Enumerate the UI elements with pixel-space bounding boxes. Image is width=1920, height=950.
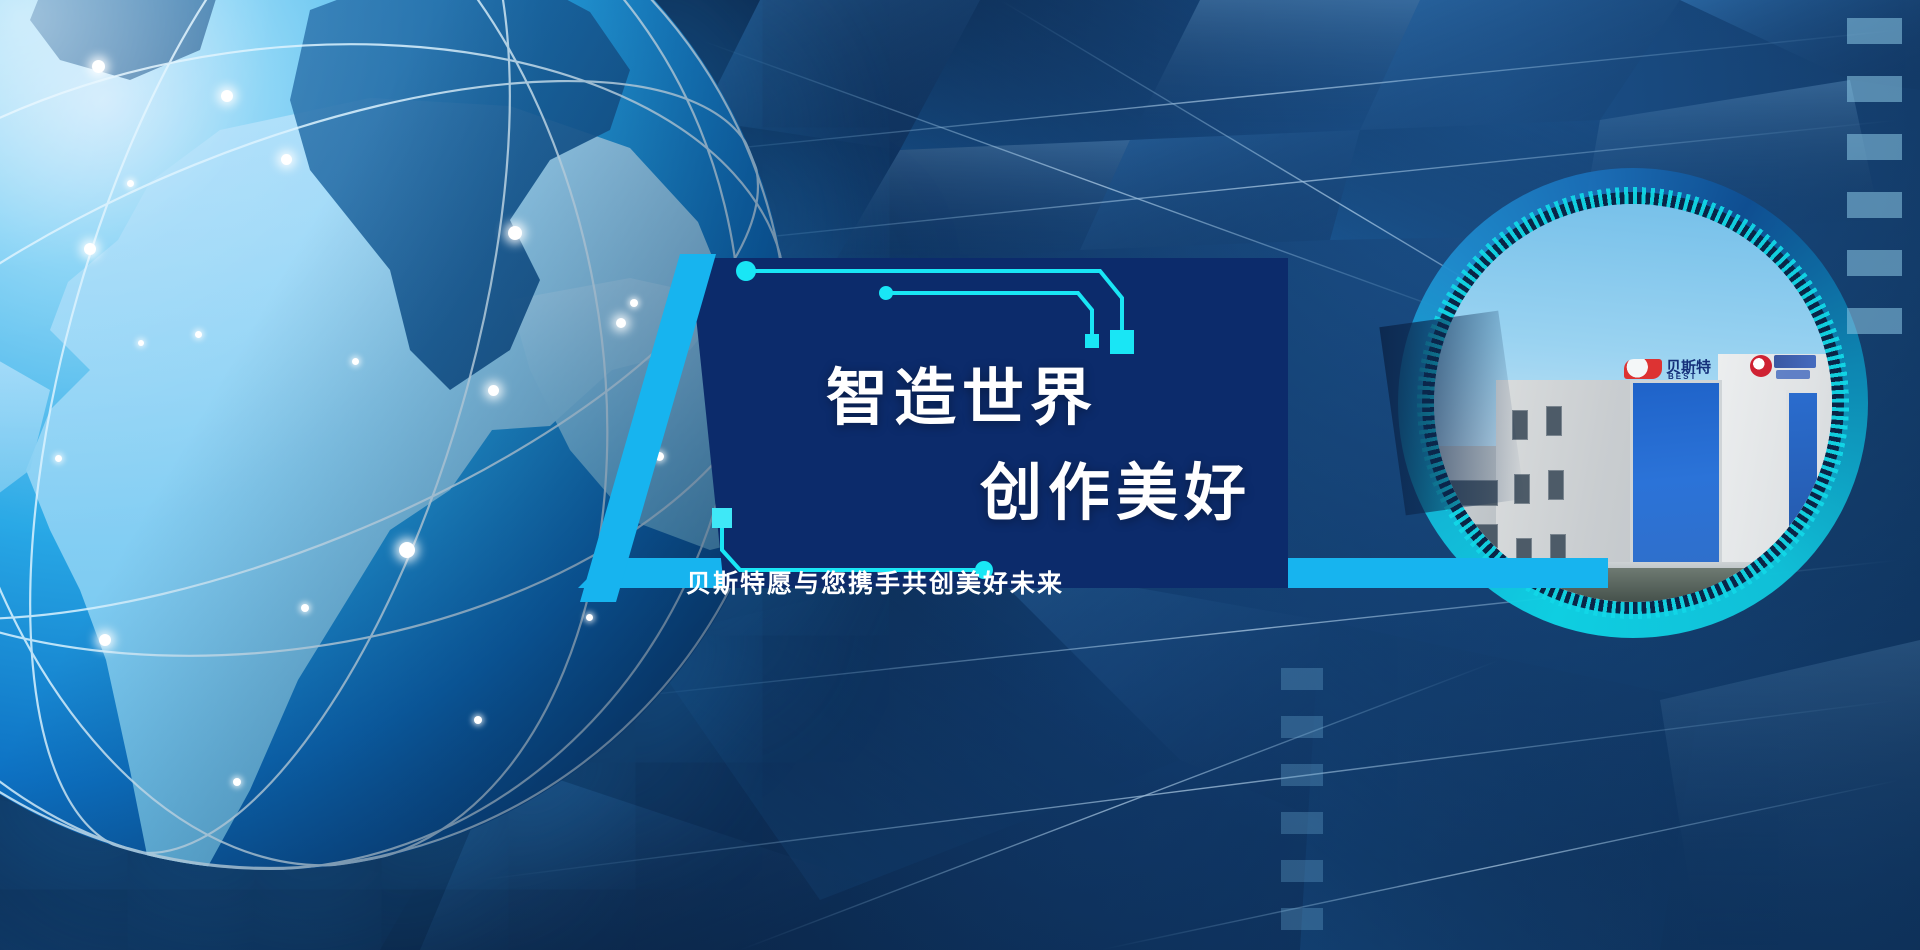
ladder-marker [1281, 812, 1323, 834]
ladder-marker [1847, 250, 1902, 276]
secondary-logo-mark [1750, 355, 1772, 377]
headline-line-1: 智造世界 [826, 368, 1098, 430]
secondary-sign-bar [1774, 355, 1816, 368]
node-dot [84, 243, 96, 255]
node-dot [586, 614, 593, 621]
photo-window [1546, 406, 1562, 436]
ladder-marker [1281, 668, 1323, 690]
building-signboard: 贝斯特 BEST [1624, 356, 1742, 382]
node-dot [233, 778, 241, 786]
ladder-marker [1847, 134, 1902, 160]
company-logo-mark [1624, 359, 1662, 379]
right-edge-marker-ladder [1847, 18, 1902, 334]
node-dot [127, 180, 134, 187]
node-dot [92, 60, 105, 73]
ladder-marker [1847, 76, 1902, 102]
ladder-marker [1847, 192, 1902, 218]
lower-marker-ladder [1281, 668, 1323, 950]
ladder-marker [1281, 716, 1323, 738]
ladder-marker [1281, 764, 1323, 786]
node-dot [399, 542, 415, 558]
node-dot [488, 385, 499, 396]
node-dot [55, 455, 62, 462]
ladder-marker [1281, 908, 1323, 930]
photo-window [1548, 470, 1564, 500]
photo-window-strip [1444, 524, 1498, 548]
ladder-marker [1847, 18, 1902, 44]
node-dot [221, 90, 233, 102]
node-dot [99, 634, 111, 646]
node-dot [281, 154, 292, 165]
ladder-marker [1847, 308, 1902, 334]
node-dot [138, 340, 144, 346]
headline-line-2: 创作美好 [980, 463, 1252, 525]
node-dot [616, 318, 626, 328]
node-dot [474, 716, 482, 724]
building-signboard-secondary [1750, 354, 1816, 384]
node-dot [352, 358, 359, 365]
secondary-sign-bar [1776, 370, 1810, 379]
ladder-marker [1281, 860, 1323, 882]
node-dot [508, 226, 522, 240]
headline-panel: 智造世界 创作美好 贝斯特愿与您携手共创美好未来 [648, 258, 1288, 638]
node-dot [301, 604, 309, 612]
node-dot [195, 331, 202, 338]
signboard-en-text: BEST [1668, 372, 1697, 381]
hero-banner: 贝斯特 BEST 热烈欢迎领导莅临指导 [0, 0, 1920, 950]
headline-subtitle: 贝斯特愿与您携手共创美好未来 [686, 564, 1064, 600]
node-dot [630, 299, 638, 307]
